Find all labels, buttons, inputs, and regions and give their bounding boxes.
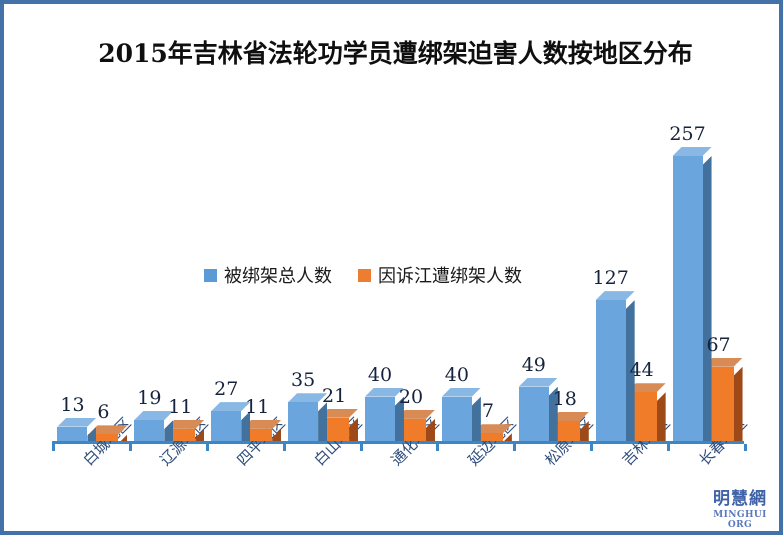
bar-value-total: 127 [590,267,632,289]
bar-value-lawsuit: 20 [390,386,432,408]
bar-front-face [673,156,703,441]
bar-side-face [703,156,712,441]
bar-side-fill [503,433,512,441]
bar-side-fill [164,420,173,441]
x-axis-tick [206,444,209,451]
bar-top-face [596,291,635,300]
chart-image: 2015年吉林省法轮功学员遭绑架迫害人数按地区分布 被绑架总人数 因诉江遭绑架人… [0,0,783,535]
x-axis-tick [590,444,593,451]
bar-side-fill [318,402,327,441]
bar-side-fill [657,392,666,441]
x-axis-tick [513,444,516,451]
x-axis-tick [744,444,747,451]
bar-value-total: 40 [359,364,401,386]
bar-total [288,402,318,441]
bar-side-fill [426,419,435,441]
bar-side-face [503,433,512,441]
bar-top-face [519,378,558,387]
bar-side-face [734,367,743,441]
bar-side-fill [87,427,96,441]
bar-side-face [118,434,127,441]
bar-total [134,420,164,441]
bar-front-face [288,402,318,441]
bar-side-fill [272,429,281,441]
bar-value-lawsuit: 18 [544,388,586,410]
bar-side-face [318,402,327,441]
bar-front-face [134,420,164,441]
bar-side-face [164,420,173,441]
bar-side-fill [195,429,204,441]
bar-value-total: 49 [513,354,555,376]
bar-value-lawsuit: 11 [236,396,278,418]
x-axis-tick [283,444,286,451]
bar-value-total: 40 [436,364,478,386]
bar-value-lawsuit: 6 [82,401,124,423]
bar-side-face [349,418,358,441]
watermark-english: MINGHUI ORG [701,510,779,530]
bar-top-face [442,388,481,397]
bar-value-lawsuit: 21 [313,385,355,407]
bar-value-lawsuit: 7 [467,400,509,422]
bar-side-fill [734,367,743,441]
bar-side-fill [349,418,358,441]
bar-value-lawsuit: 67 [698,334,740,356]
bar-value-total: 257 [667,123,709,145]
bar-front-face [57,427,87,441]
watermark-chinese: 明慧網 [701,491,779,509]
bar-side-face [272,429,281,441]
bar-side-fill [118,434,127,441]
bar-total [57,427,87,441]
x-axis-tick [129,444,132,451]
bar-side-face [426,419,435,441]
bar-side-face [657,392,666,441]
x-axis-tick [436,444,439,451]
x-axis-tick [667,444,670,451]
bar-side-face [87,427,96,441]
bar-side-face [580,421,589,441]
x-axis-tick [360,444,363,451]
bar-side-fill [580,421,589,441]
watermark: 明慧網 MINGHUI ORG [701,491,779,530]
bar-side-face [195,429,204,441]
bar-top-face [673,147,712,156]
bar-total [673,156,703,441]
bar-value-lawsuit: 44 [621,359,663,381]
bar-value-lawsuit: 11 [159,396,201,418]
plot-area: 136白城地区1911辽源地区2711四平地区3521白山地区4020通化地区4… [4,4,783,535]
x-axis-tick [52,444,55,451]
bar-side-fill [703,156,712,441]
